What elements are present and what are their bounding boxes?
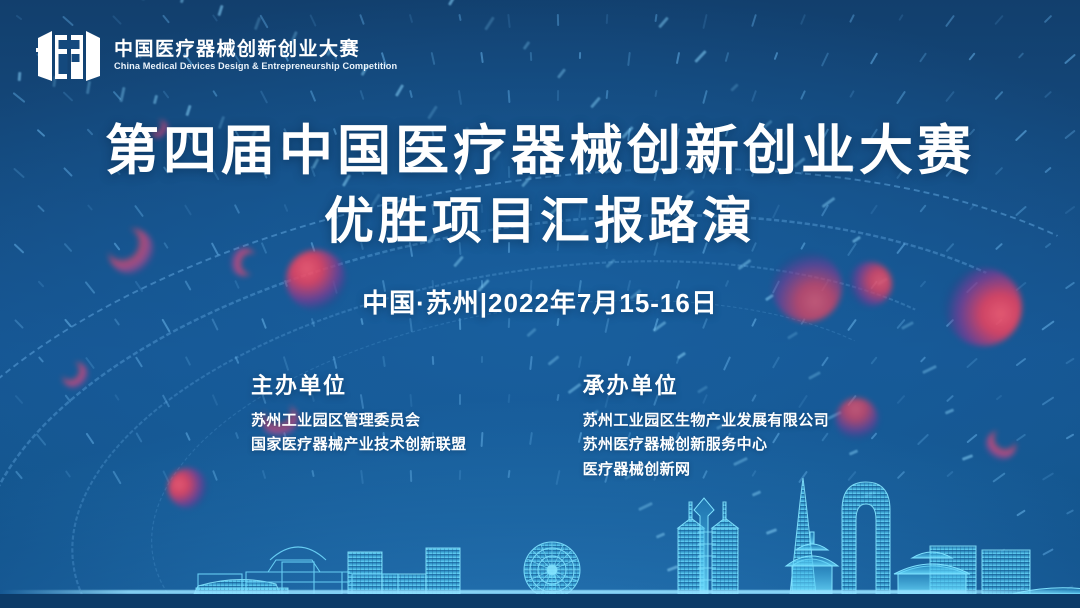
organizer-heading: 承办单位 [583,368,829,400]
brand-lockup: 中国医疗器械创新创业大赛 China Medical Devices Desig… [36,28,406,84]
organizer-line: 苏州工业园区管理委员会 [251,409,467,433]
event-poster: 中国医疗器械创新创业大赛 China Medical Devices Desig… [0,0,1080,608]
organizer-line: 医疗器械创新网 [583,458,829,482]
page-subtitle: 优胜项目汇报路演 [0,192,1080,251]
organizer-line: 苏州工业园区生物产业发展有限公司 [583,409,829,433]
poster-footer-bar [0,594,1080,608]
hero-titles: 第四届中国医疗器械创新创业大赛 优胜项目汇报路演 中国·苏州|2022年7月15… [0,120,1080,320]
organizer-sections: 主办单位苏州工业园区管理委员会国家医疗器械产业技术创新联盟承办单位苏州工业园区生… [0,368,1080,482]
page-title: 第四届中国医疗器械创新创业大赛 [0,120,1080,184]
brand-name-en: China Medical Devices Design & Entrepren… [114,62,397,72]
organizer-line: 国家医疗器械产业技术创新联盟 [251,433,467,457]
suzhou-skyline-silhouette-icon [0,470,1080,608]
organizer-column-1: 主办单位苏州工业园区管理委员会国家医疗器械产业技术创新联盟 [251,368,467,482]
skyline-baseline [0,590,1080,594]
organizer-heading: 主办单位 [251,368,467,400]
organizer-column-2: 承办单位苏州工业园区生物产业发展有限公司苏州医疗器械创新服务中心医疗器械创新网 [583,368,829,482]
open-gate-logo-icon [36,28,102,84]
location-date: 中国·苏州|2022年7月15-16日 [0,283,1080,320]
organizer-line: 苏州医疗器械创新服务中心 [583,433,829,457]
brand-name-cn: 中国医疗器械创新创业大赛 [114,40,406,59]
